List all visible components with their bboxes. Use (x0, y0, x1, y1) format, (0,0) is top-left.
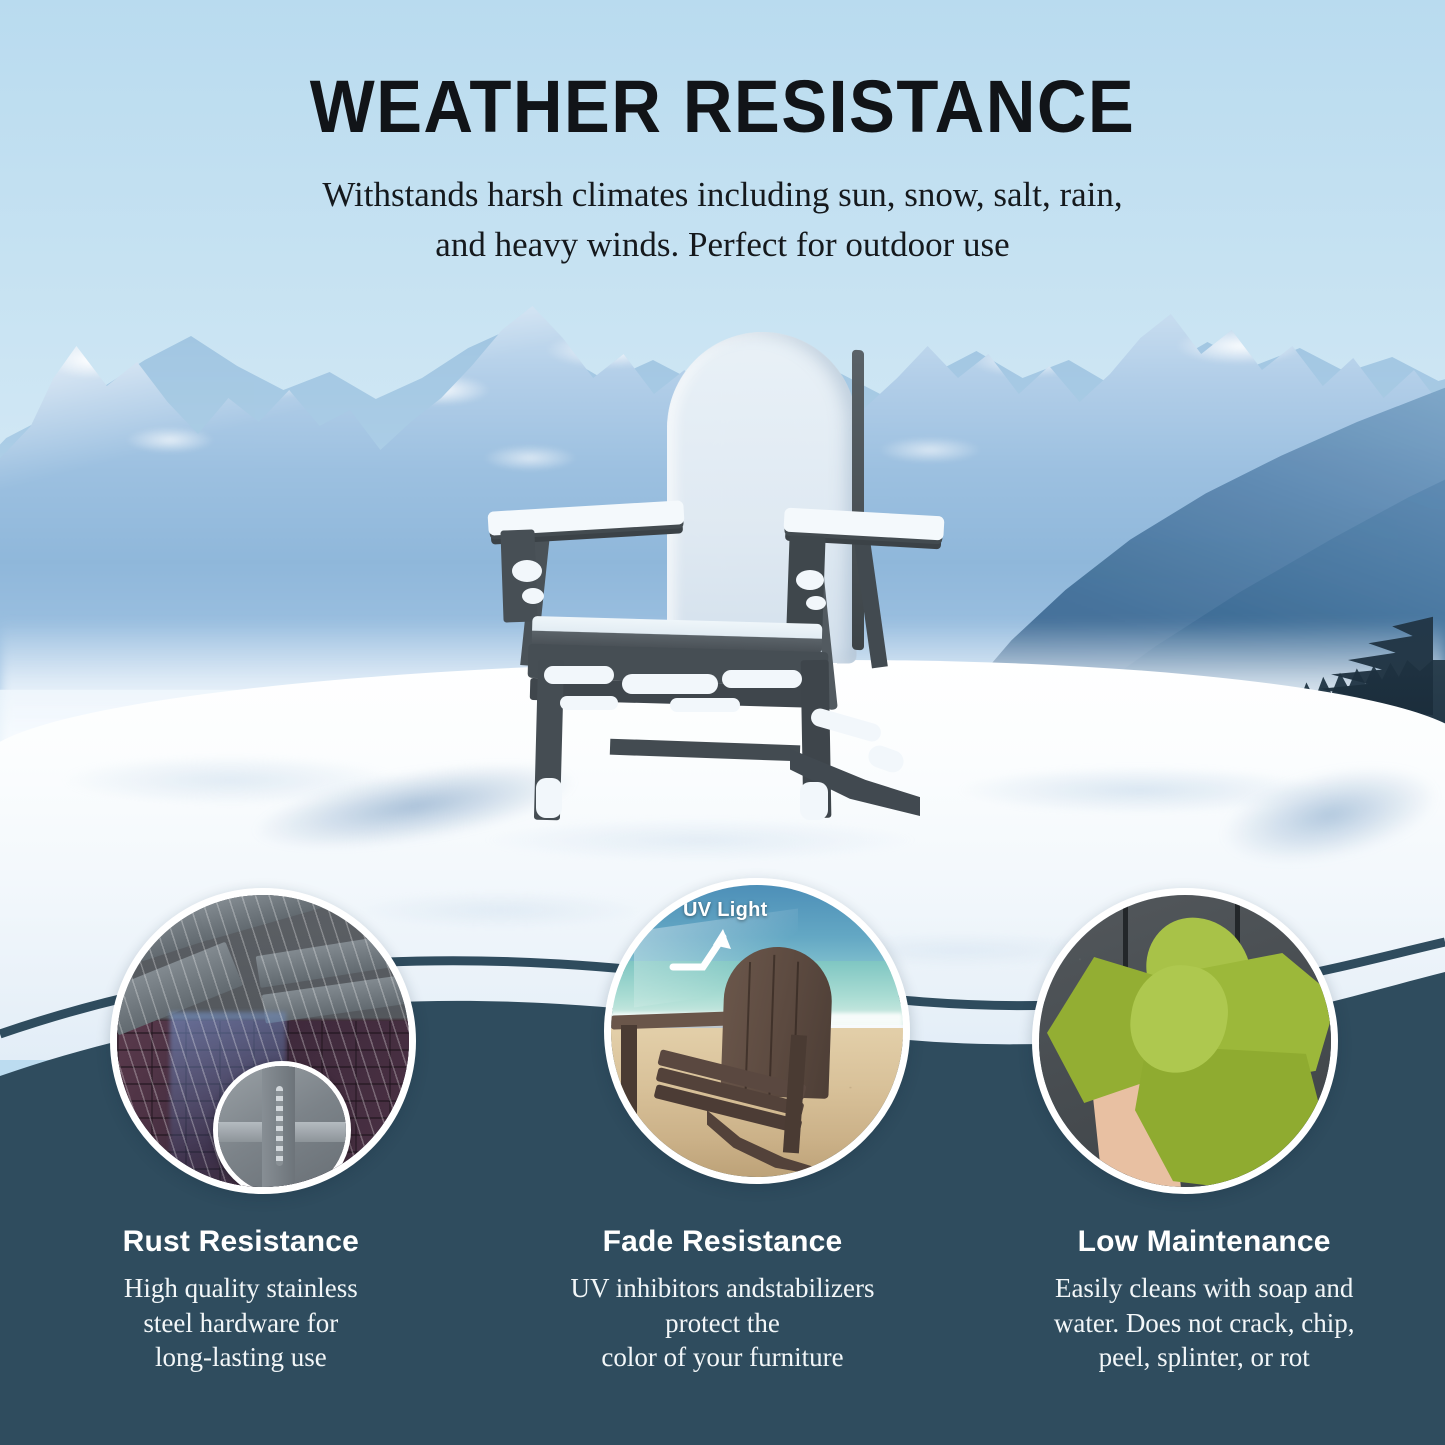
low-maintenance-photo (1039, 895, 1331, 1187)
feature-title-low-maintenance: Low Maintenance (987, 1225, 1421, 1259)
feature-desc-line: color of your furniture (601, 1342, 843, 1372)
uv-arrow-icon (669, 927, 753, 983)
feature-desc-line: long-lasting use (155, 1342, 327, 1372)
brown-adirondack-chair (611, 885, 903, 1177)
feature-image-low-maintenance (1032, 888, 1338, 1194)
page-title: WEATHER RESISTANCE (51, 0, 1395, 144)
feature-desc-line: High quality stainless (124, 1273, 358, 1303)
backrest-slat (768, 955, 775, 1095)
feature-desc-line: UV inhibitors andstabilizers (571, 1273, 875, 1303)
uv-light-label: UV Light (683, 899, 768, 922)
feature-desc-line: water. Does not crack, chip, (1054, 1308, 1355, 1338)
feature-image-rust-resistance (110, 888, 416, 1194)
page-subtitle: Withstands harsh climates including sun,… (223, 170, 1223, 269)
feature-desc-line: peel, splinter, or rot (1099, 1342, 1310, 1372)
header: WEATHER RESISTANCE Withstands harsh clim… (0, 0, 1445, 269)
weather-resistance-infographic: WEATHER RESISTANCE Withstands harsh clim… (0, 0, 1445, 1445)
hardware-inset-circle (213, 1061, 351, 1194)
feature-desc-line: steel hardware for (143, 1308, 338, 1338)
feature-title-rust-resistance: Rust Resistance (24, 1225, 458, 1259)
subtitle-line-1: Withstands harsh climates including sun,… (223, 170, 1223, 220)
feature-image-fade-resistance: UV Light (604, 878, 910, 1184)
feature-desc-line: protect the (665, 1308, 780, 1338)
stainless-chain (276, 1086, 283, 1165)
rust-resistance-photo (117, 895, 409, 1187)
feature-description-rust-resistance: High quality stainless steel hardware fo… (76, 1271, 406, 1375)
feature-fade-resistance: Fade Resistance UV inhibitors andstabili… (482, 1225, 964, 1375)
feature-title-fade-resistance: Fade Resistance (506, 1225, 940, 1259)
feature-desc-line: Easily cleans with soap and (1055, 1273, 1353, 1303)
feature-rust-resistance: Rust Resistance High quality stainless s… (0, 1225, 482, 1375)
brown-chair-front-leg (621, 1025, 637, 1165)
feature-description-low-maintenance: Easily cleans with soap and water. Does … (1039, 1271, 1369, 1375)
feature-text-row: Rust Resistance High quality stainless s… (0, 1225, 1445, 1375)
feature-description-fade-resistance: UV inhibitors andstabilizers protect the… (558, 1271, 888, 1375)
subtitle-line-2: and heavy winds. Perfect for outdoor use (223, 220, 1223, 270)
fade-resistance-photo: UV Light (611, 885, 903, 1177)
feature-low-maintenance: Low Maintenance Easily cleans with soap … (963, 1225, 1445, 1375)
